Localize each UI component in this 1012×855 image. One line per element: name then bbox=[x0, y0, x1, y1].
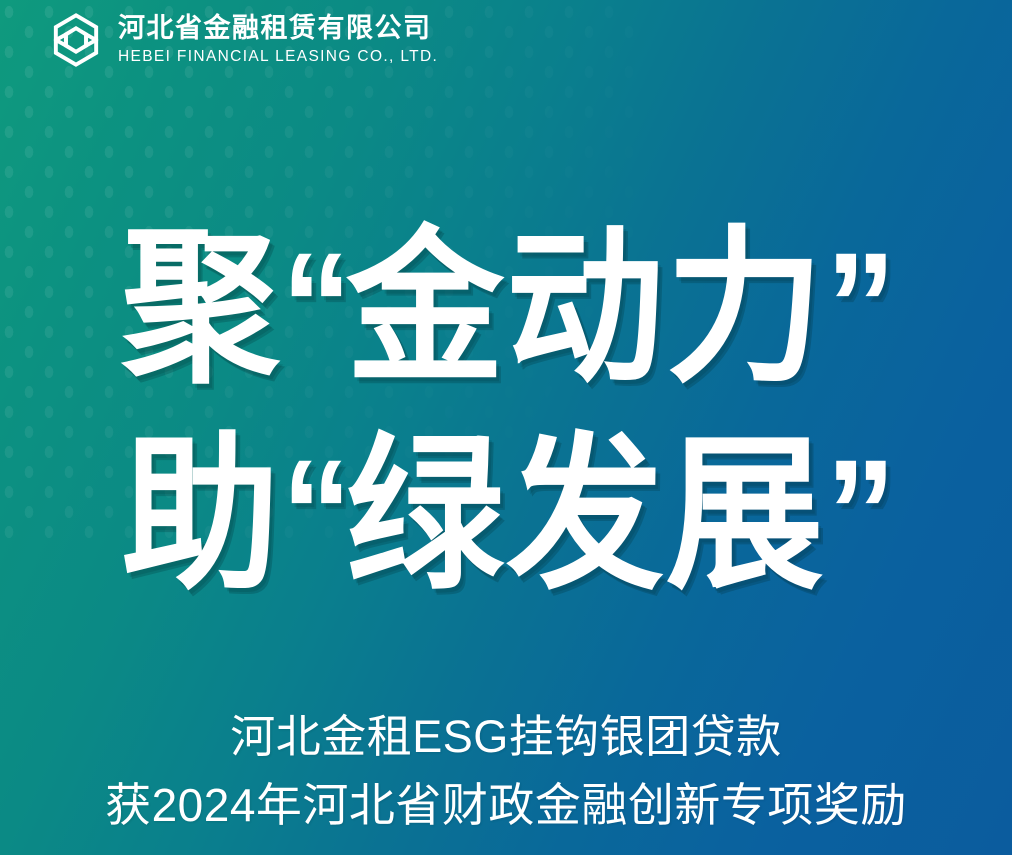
headline-line-2-close-quote: ” bbox=[826, 428, 891, 596]
headline-line-1-mid: 金动力 bbox=[346, 214, 825, 402]
hexagon-interlock-logo-icon bbox=[48, 12, 104, 68]
brand-text: 河北省金融租赁有限公司 HEBEI FINANCIAL LEASING CO.,… bbox=[118, 15, 438, 65]
headline-line-1-pre: 聚 bbox=[122, 214, 282, 402]
promotional-poster: 河北省金融租赁有限公司 HEBEI FINANCIAL LEASING CO.,… bbox=[0, 0, 1012, 855]
headline-line-2-pre: 助 bbox=[122, 421, 282, 609]
headline-line-2: 助“绿发展” bbox=[30, 412, 981, 619]
headline-line-1-open-quote: “ bbox=[281, 221, 346, 389]
headline-line-2-open-quote: “ bbox=[281, 428, 346, 596]
subtitle-line-1: 河北金租ESG挂钩银团贷款 bbox=[0, 707, 1012, 767]
subtitle-line-2: 获2024年河北省财政金融创新专项奖励 bbox=[0, 775, 1012, 837]
headline-line-2-mid: 绿发展 bbox=[346, 421, 825, 609]
headline: 聚“金动力” 助“绿发展” bbox=[0, 205, 1012, 618]
headline-line-1-close-quote: ” bbox=[826, 221, 891, 389]
brand-name-cn: 河北省金融租赁有限公司 bbox=[118, 15, 438, 42]
brand-lockup: 河北省金融租赁有限公司 HEBEI FINANCIAL LEASING CO.,… bbox=[48, 12, 438, 68]
brand-name-en: HEBEI FINANCIAL LEASING CO., LTD. bbox=[118, 49, 438, 65]
subtitle-block: 河北金租ESG挂钩银团贷款 获2024年河北省财政金融创新专项奖励 bbox=[0, 707, 1012, 837]
headline-line-1: 聚“金动力” bbox=[30, 205, 981, 412]
